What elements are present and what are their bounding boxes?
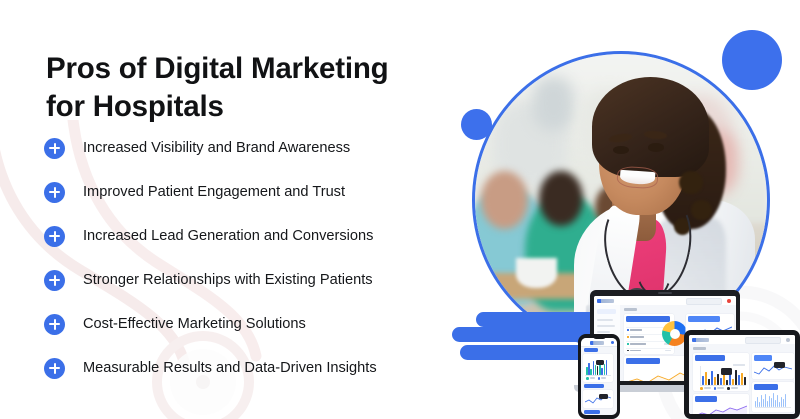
list-item: Increased Visibility and Brand Awareness (44, 126, 464, 170)
blue-circle-small (461, 109, 492, 140)
list-item: Increased Lead Generation and Conversion… (44, 214, 464, 258)
benefits-list: Increased Visibility and Brand Awareness… (44, 126, 464, 390)
tablet-dashboard-mockup (684, 330, 800, 419)
list-item-label: Stronger Relationships with Existing Pat… (83, 272, 373, 288)
list-item: Stronger Relationships with Existing Pat… (44, 258, 464, 302)
plus-icon (44, 358, 65, 379)
title-line-2: for Hospitals (46, 88, 446, 126)
promotional-banner: Pros of Digital Marketing for Hospitals … (0, 0, 800, 419)
list-item: Measurable Results and Data-Driven Insig… (44, 346, 464, 390)
list-item-label: Increased Lead Generation and Conversion… (83, 228, 373, 244)
list-item-label: Cost-Effective Marketing Solutions (83, 316, 306, 332)
list-item-label: Increased Visibility and Brand Awareness (83, 140, 350, 156)
plus-icon (44, 314, 65, 335)
plus-icon (44, 270, 65, 291)
plus-icon (44, 226, 65, 247)
plus-icon (44, 138, 65, 159)
title-line-1: Pros of Digital Marketing (46, 50, 446, 88)
list-item-label: Improved Patient Engagement and Trust (83, 184, 345, 200)
plus-icon (44, 182, 65, 203)
device-mockups (572, 286, 800, 419)
list-item: Improved Patient Engagement and Trust (44, 170, 464, 214)
list-item: Cost-Effective Marketing Solutions (44, 302, 464, 346)
list-item-label: Measurable Results and Data-Driven Insig… (83, 360, 377, 376)
page-title: Pros of Digital Marketing for Hospitals (46, 50, 446, 126)
phone-dashboard-mockup (578, 334, 620, 419)
